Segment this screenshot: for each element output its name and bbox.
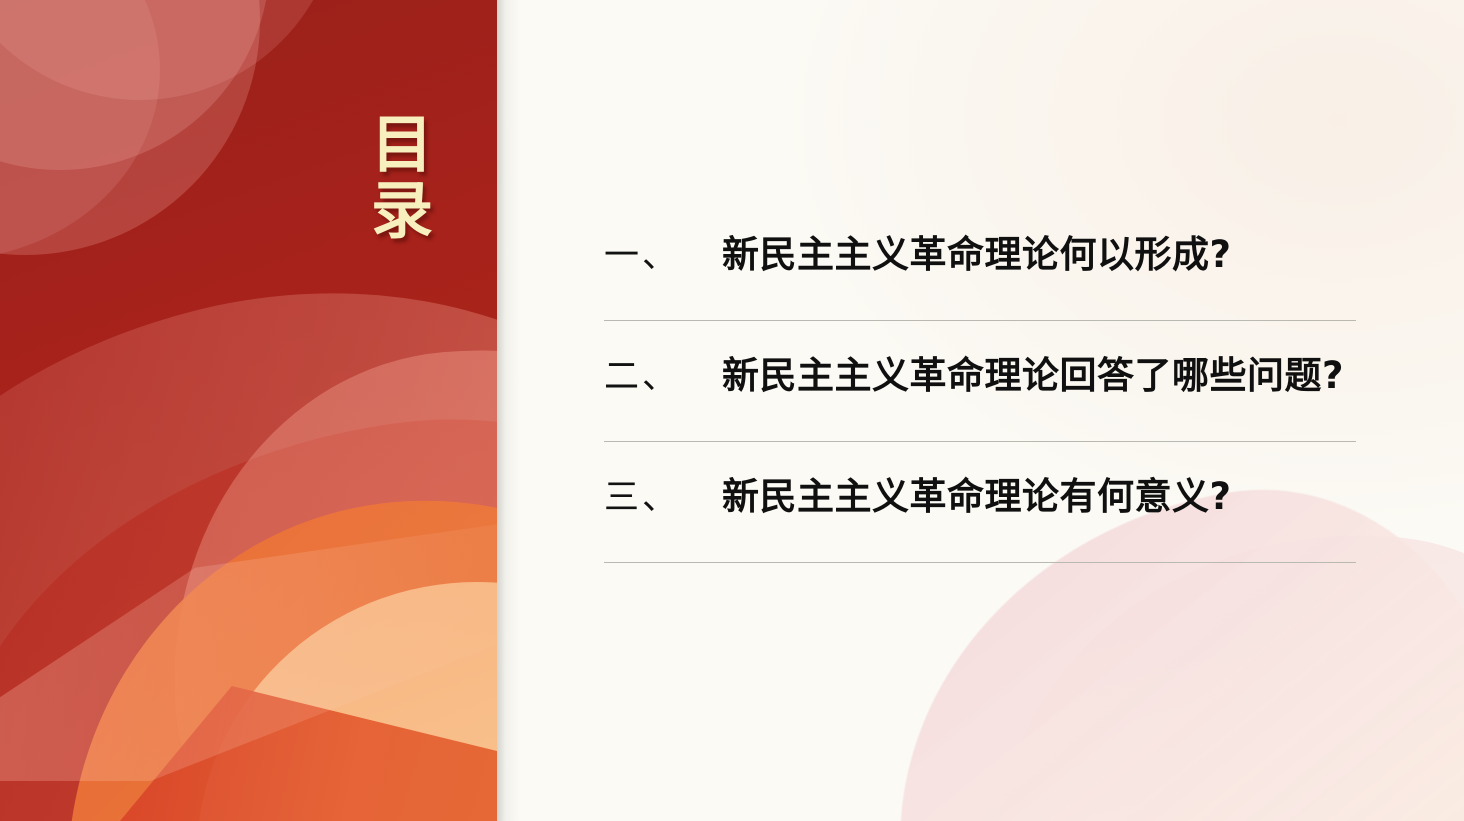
toc-item-1-index: 一、	[604, 227, 722, 278]
toc-item-2-label: 新民主主义革命理论回答了哪些问题?	[722, 345, 1344, 399]
presentation-slide: 目 录 一、 新民主主义革命理论何以形成? 二、 新民主主义革命理论回答了哪些问…	[0, 0, 1464, 821]
page-title: 目 录	[348, 112, 458, 243]
page-title-char-2: 录	[348, 178, 458, 244]
toc-item-2-index: 二、	[604, 348, 722, 399]
toc-item-2[interactable]: 二、 新民主主义革命理论回答了哪些问题?	[604, 321, 1356, 442]
toc-item-3-label: 新民主主义革命理论有何意义?	[722, 466, 1231, 520]
toc-item-3-index: 三、	[604, 469, 722, 520]
toc-item-1-label: 新民主主义革命理论何以形成?	[722, 224, 1231, 278]
page-title-char-1: 目	[348, 112, 458, 178]
toc-item-3[interactable]: 三、 新民主主义革命理论有何意义?	[604, 442, 1356, 563]
toc-item-1[interactable]: 一、 新民主主义革命理论何以形成?	[604, 200, 1356, 321]
table-of-contents-list: 一、 新民主主义革命理论何以形成? 二、 新民主主义革命理论回答了哪些问题? 三…	[604, 200, 1356, 563]
